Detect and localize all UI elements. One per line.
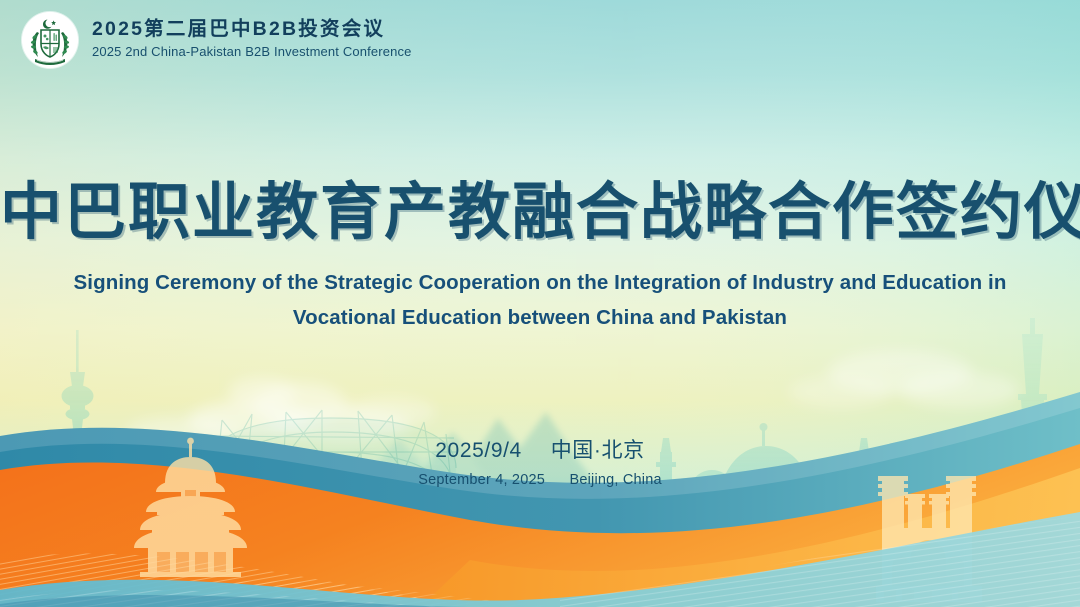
main-title-cn: 中巴职业教育产教融合战略合作签约仪式 (0, 178, 1080, 247)
pakistan-state-emblem-icon (22, 12, 78, 68)
subtitle-line-2: Vocational Education between China and P… (0, 300, 1080, 335)
date-cn-value: 2025/9/4 (435, 439, 522, 462)
emblem-svg (22, 12, 78, 68)
location-cn-value: 中国·北京 (551, 439, 645, 462)
date-location-en: September 4, 2025 Beijing, China (0, 470, 1080, 492)
subtitle-line-1: Signing Ceremony of the Strategic Cooper… (0, 265, 1080, 300)
conference-banner: 2025第二届巴中B2B投资会议 2025 2nd China-Pakistan… (0, 0, 1080, 607)
date-location-block: 2025/9/4 中国·北京 September 4, 2025 Beijing… (0, 437, 1080, 492)
main-subtitle-en: Signing Ceremony of the Strategic Cooper… (0, 265, 1080, 336)
header-bar: 2025第二届巴中B2B投资会议 2025 2nd China-Pakistan… (0, 0, 1080, 80)
date-location-cn: 2025/9/4 中国·北京 (0, 437, 1080, 465)
date-en-value: September 4, 2025 (418, 472, 545, 488)
location-en-value: Beijing, China (569, 472, 661, 488)
header-text-group: 2025第二届巴中B2B投资会议 2025 2nd China-Pakistan… (92, 18, 412, 62)
header-title-en: 2025 2nd China-Pakistan B2B Investment C… (92, 42, 412, 62)
header-title-cn: 2025第二届巴中B2B投资会议 (92, 18, 412, 40)
